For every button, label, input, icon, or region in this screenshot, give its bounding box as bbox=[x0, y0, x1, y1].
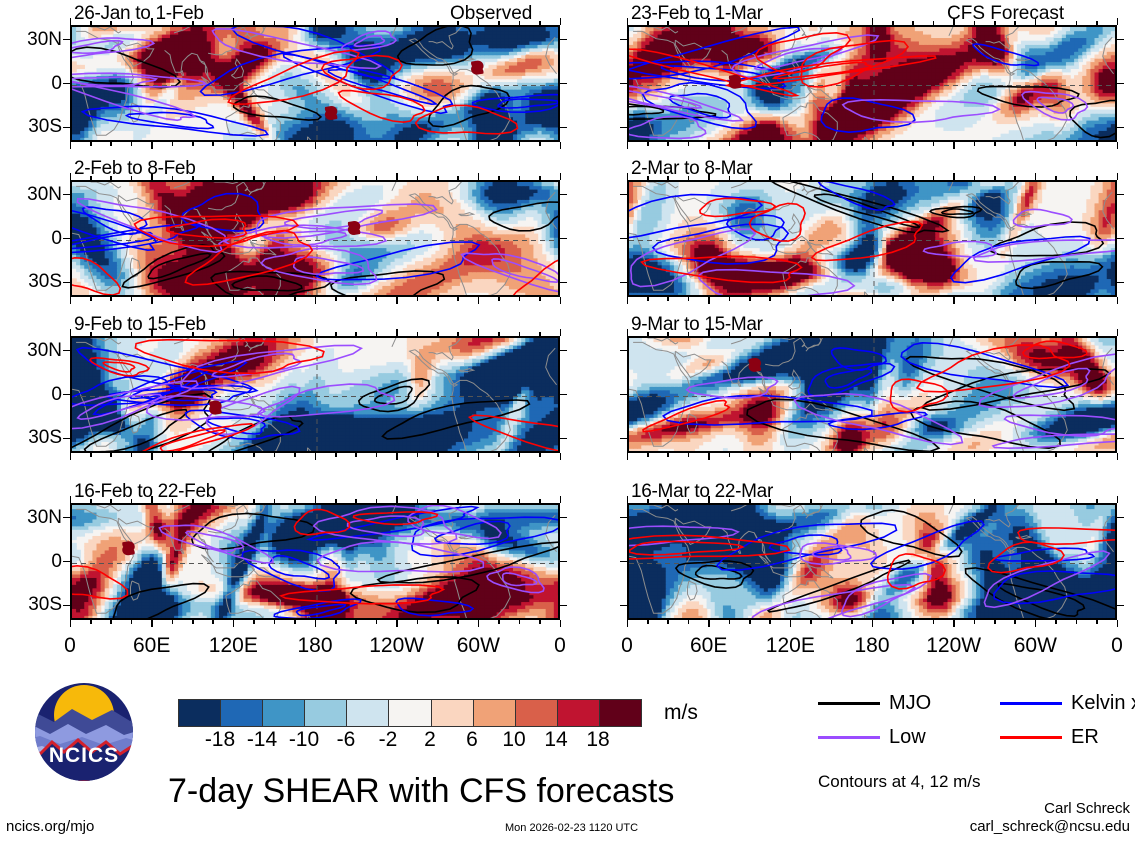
colorbar-swatch bbox=[558, 700, 600, 726]
legend-label: ER bbox=[1071, 726, 1099, 749]
legend-line-icon bbox=[1000, 702, 1062, 705]
map-panel bbox=[70, 503, 560, 620]
legend-item-er: ER bbox=[1000, 726, 1099, 749]
ncics-logo-text: NCICS bbox=[20, 744, 148, 768]
x-axis-label: 180 bbox=[275, 634, 355, 658]
x-axis-label: 60W bbox=[995, 634, 1075, 658]
panel-title: 16-Mar to 22-Mar bbox=[631, 481, 773, 503]
colorbar-swatch bbox=[516, 700, 558, 726]
colorbar bbox=[178, 699, 642, 727]
ncics-logo: NCICS bbox=[20, 682, 148, 782]
y-axis-label: 30N bbox=[0, 184, 62, 206]
map-panel bbox=[627, 503, 1117, 620]
x-axis-label: 0 bbox=[1077, 634, 1135, 658]
colorbar-swatch bbox=[221, 700, 263, 726]
y-axis-label: 0 bbox=[0, 228, 62, 250]
colorbar-swatch bbox=[474, 700, 516, 726]
y-axis-label: 30N bbox=[0, 29, 62, 51]
x-axis-label: 60W bbox=[438, 634, 518, 658]
legend-item-mjo: MJO bbox=[818, 692, 931, 715]
y-axis-label: 30N bbox=[0, 340, 62, 362]
x-axis-label: 120E bbox=[750, 634, 830, 658]
colorbar-units-label: m/s bbox=[664, 701, 698, 725]
y-axis-label: 30S bbox=[0, 427, 62, 449]
y-axis-label: 0 bbox=[0, 551, 62, 573]
author-email: carl_schreck@ncsu.edu bbox=[845, 818, 1130, 835]
map-panel bbox=[627, 336, 1117, 453]
x-axis-label: 0 bbox=[30, 634, 110, 658]
panel-title: 16-Feb to 22-Feb bbox=[74, 481, 216, 503]
map-panel bbox=[627, 25, 1117, 142]
author-name: Carl Schreck bbox=[885, 800, 1130, 817]
x-axis-label: 180 bbox=[832, 634, 912, 658]
colorbar-swatch bbox=[305, 700, 347, 726]
x-axis-label: 120W bbox=[914, 634, 994, 658]
legend-label: MJO bbox=[889, 692, 931, 715]
x-axis-label: 0 bbox=[587, 634, 667, 658]
legend-label: Kelvin x2 bbox=[1071, 692, 1135, 715]
x-axis-label: 60E bbox=[669, 634, 749, 658]
x-axis-label: 120W bbox=[357, 634, 437, 658]
legend-line-icon bbox=[818, 702, 880, 705]
map-panel bbox=[70, 25, 560, 142]
legend-line-icon bbox=[818, 736, 880, 739]
site-url: ncics.org/mjo bbox=[6, 818, 94, 835]
colorbar-swatch bbox=[432, 700, 474, 726]
legend-line-icon bbox=[1000, 736, 1062, 739]
contour-note: Contours at 4, 12 m/s bbox=[818, 772, 981, 792]
y-axis-label: 30S bbox=[0, 594, 62, 616]
x-axis-label: 60E bbox=[112, 634, 192, 658]
colorbar-swatch bbox=[600, 700, 641, 726]
colorbar-swatch bbox=[347, 700, 389, 726]
column-label-forecast: CFS Forecast bbox=[947, 3, 1064, 25]
timestamp: Mon 2026-02-23 1120 UTC bbox=[505, 822, 638, 834]
map-panel bbox=[70, 336, 560, 453]
panel-title: 9-Feb to 15-Feb bbox=[74, 314, 206, 336]
colorbar-swatch bbox=[389, 700, 431, 726]
column-label-observed: Observed bbox=[450, 3, 532, 25]
map-panel bbox=[627, 180, 1117, 297]
y-axis-label: 0 bbox=[0, 73, 62, 95]
legend-label: Low bbox=[889, 726, 926, 749]
map-panel bbox=[70, 180, 560, 297]
y-axis-label: 30N bbox=[0, 507, 62, 529]
y-axis-label: 30S bbox=[0, 116, 62, 138]
y-axis-label: 30S bbox=[0, 271, 62, 293]
legend-item-kelvin-x2: Kelvin x2 bbox=[1000, 692, 1135, 715]
panel-title: 26-Jan to 1-Feb bbox=[74, 3, 204, 25]
panel-title: 2-Feb to 8-Feb bbox=[74, 158, 195, 180]
colorbar-swatch bbox=[179, 700, 221, 726]
colorbar-tick-label: 18 bbox=[568, 728, 628, 752]
legend-item-low: Low bbox=[818, 726, 926, 749]
colorbar-swatch bbox=[263, 700, 305, 726]
y-axis-label: 0 bbox=[0, 384, 62, 406]
panel-title: 9-Mar to 15-Mar bbox=[631, 314, 763, 336]
page-title: 7-day SHEAR with CFS forecasts bbox=[168, 772, 674, 811]
panel-title: 2-Mar to 8-Mar bbox=[631, 158, 752, 180]
x-axis-label: 120E bbox=[193, 634, 273, 658]
panel-title: 23-Feb to 1-Mar bbox=[631, 3, 763, 25]
